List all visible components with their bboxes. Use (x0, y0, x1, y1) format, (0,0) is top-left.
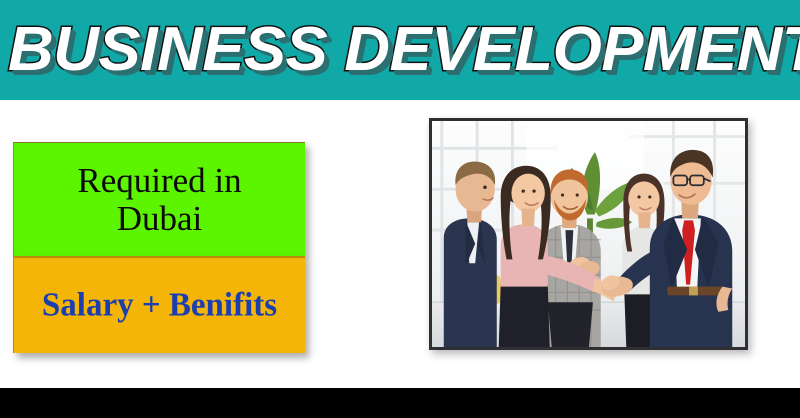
info-panel-stack: Required in Dubai Salary + Benifits (13, 142, 305, 353)
location-line-1: Required in (77, 162, 241, 200)
salary-panel: Salary + Benifits (13, 256, 305, 353)
header-banner: BUSINESS DEVELOPMENT EXECUTIVE (0, 0, 800, 100)
bottom-bar (0, 388, 800, 418)
location-panel-text: Required in Dubai (69, 162, 249, 238)
location-panel: Required in Dubai (13, 142, 305, 256)
salary-panel-text: Salary + Benifits (42, 286, 277, 324)
page-title: BUSINESS DEVELOPMENT EXECUTIVE (8, 7, 800, 93)
location-line-2: Dubai (77, 200, 241, 238)
business-handshake-photo (429, 118, 748, 350)
business-handshake-illustration (432, 121, 745, 347)
job-advert-poster: BUSINESS DEVELOPMENT EXECUTIVE Required … (0, 0, 800, 418)
